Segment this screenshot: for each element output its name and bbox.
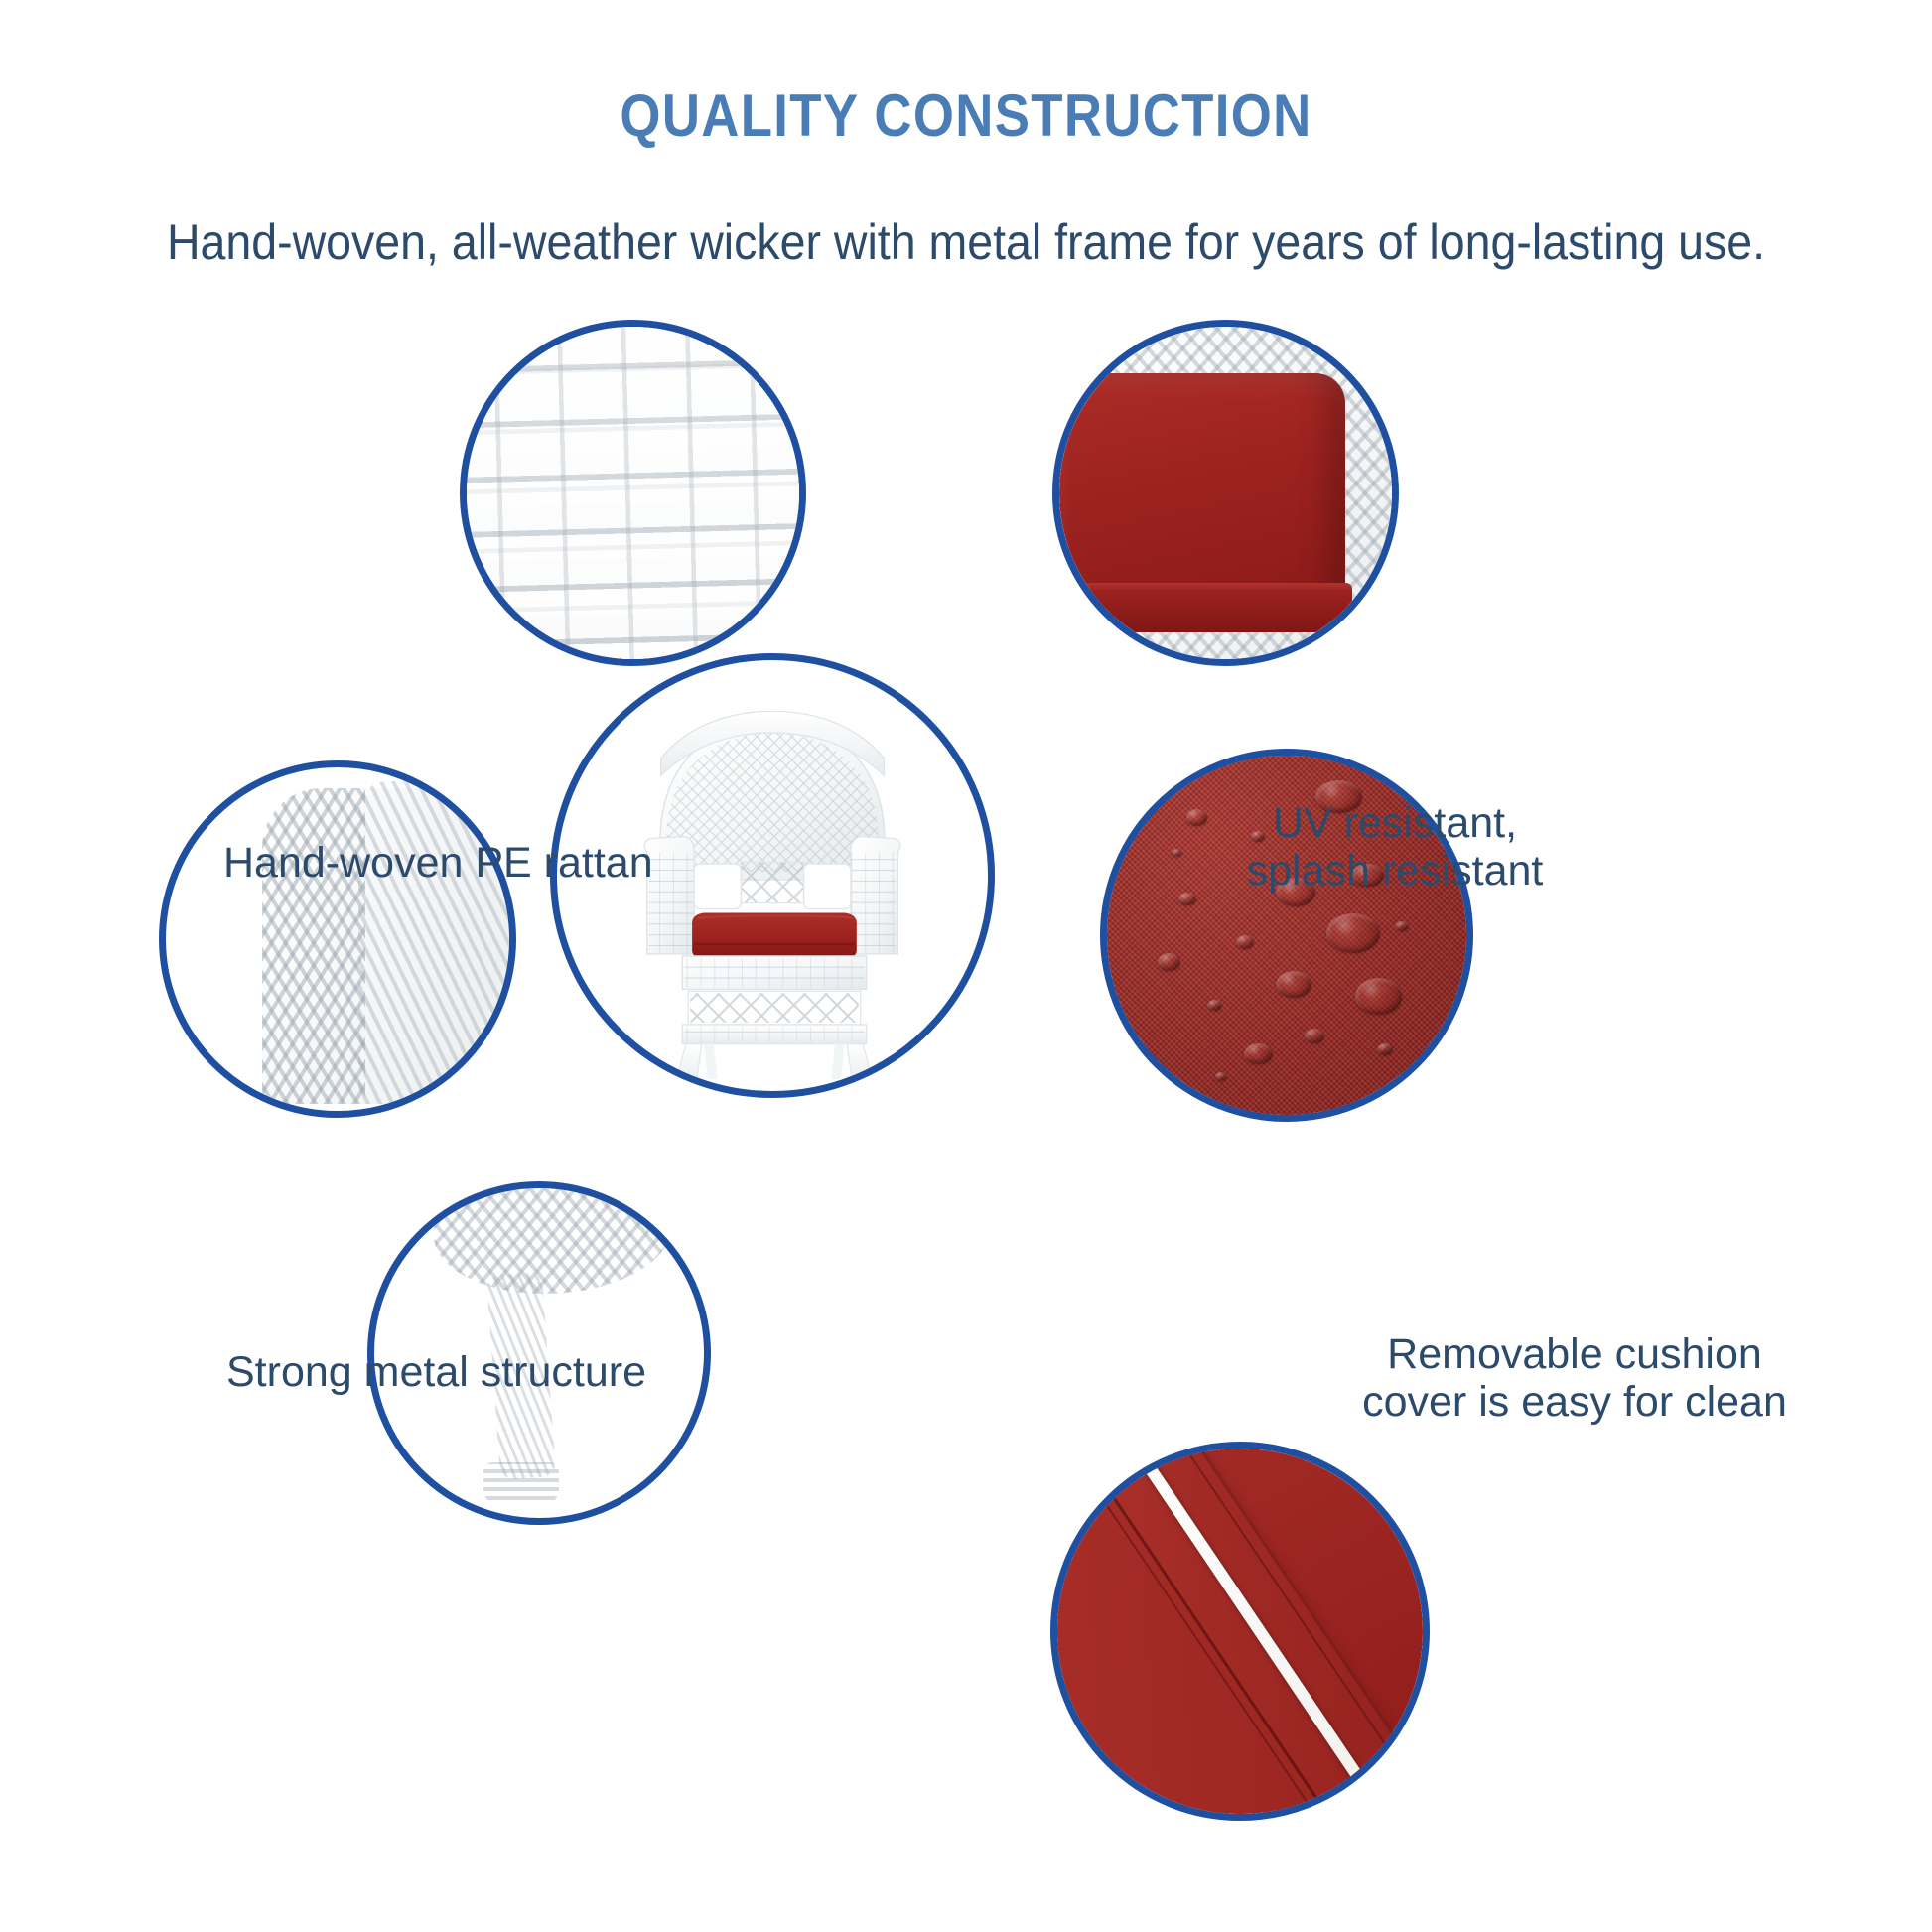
feature-circle-hand-woven-pe-rattan xyxy=(460,320,806,666)
water-droplet xyxy=(1326,913,1380,953)
water-droplet xyxy=(1215,1072,1227,1081)
water-droplet xyxy=(1355,978,1402,1014)
cushion-on-chair-image xyxy=(1059,327,1392,659)
flat-rattan-texture xyxy=(467,327,799,659)
caption-strong-metal-structure: Strong metal structure xyxy=(226,1348,646,1396)
feature-circle-removable-cushion-cover xyxy=(1050,1442,1430,1821)
caption-removable-cushion-cover: Removable cushion cover is easy for clea… xyxy=(1247,1330,1902,1426)
page-subtitle: Hand-woven, all-weather wicker with meta… xyxy=(68,213,1864,271)
caption-hand-woven-pe-rattan: Hand-woven PE rattan xyxy=(223,839,653,887)
chair-arm-open-weave xyxy=(262,788,365,1104)
feature-circle-strong-metal-structure xyxy=(159,760,516,1118)
cushion-zipper-image xyxy=(1057,1449,1423,1814)
page-title: QUALITY CONSTRUCTION xyxy=(116,81,1816,150)
water-droplet xyxy=(1244,1043,1273,1065)
chair-leg-foot xyxy=(483,1462,559,1505)
chair-arm-side-weave xyxy=(358,781,509,1104)
chair-arm-image xyxy=(166,767,509,1111)
chair-leg-upper-weave xyxy=(434,1188,671,1294)
water-droplet xyxy=(1377,1043,1393,1055)
cushion-edge xyxy=(1059,590,1352,633)
rattan-weave-image xyxy=(467,327,799,659)
caption-uv-splash-resistant: UV resistant, splash resistant xyxy=(1127,799,1663,895)
feature-circle-uv-splash-resistant xyxy=(1052,320,1399,666)
water-droplet xyxy=(1207,1000,1221,1011)
header: QUALITY CONSTRUCTION Hand-woven, all-wea… xyxy=(0,0,1932,271)
